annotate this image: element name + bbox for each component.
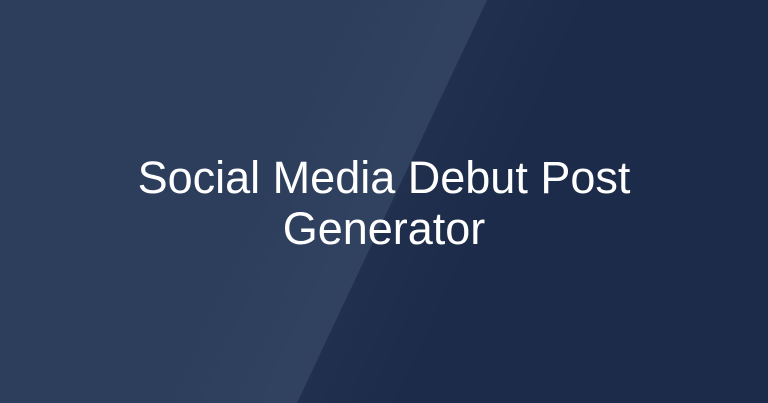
title-container: Social Media Debut Post Generator [0,0,768,403]
title-banner: Social Media Debut Post Generator [0,0,768,403]
page-title: Social Media Debut Post Generator [104,152,664,254]
